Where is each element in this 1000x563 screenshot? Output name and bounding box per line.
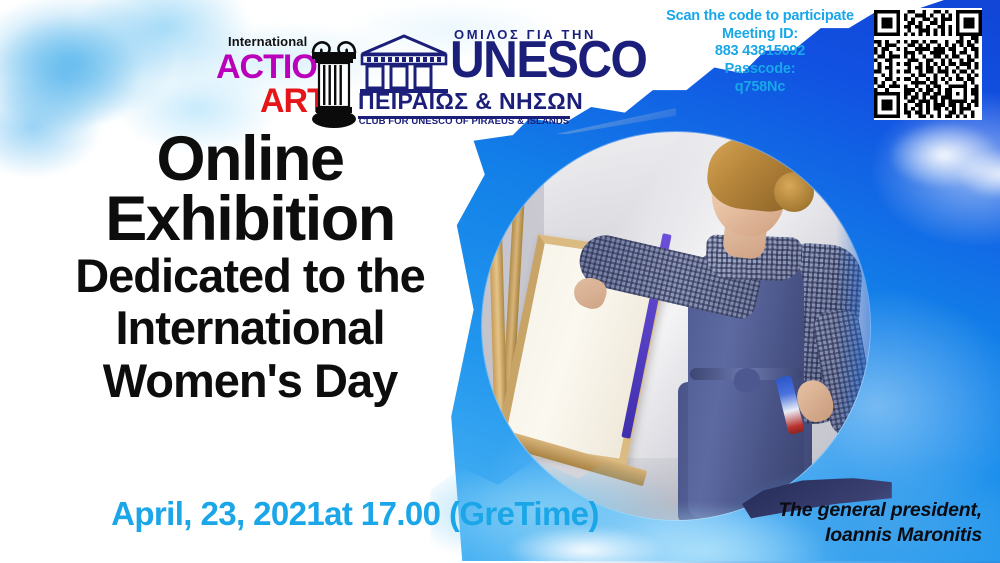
logo-unesco-club-subtitle: CLUB FOR UNESCO OF PIRAEUS & ISLANDS [358,116,570,127]
qr-code-icon[interactable] [874,8,982,120]
title-line-online: Online [40,130,460,190]
passcode-label: Passcode: [655,61,865,79]
poster-canvas: International ACTION ART [0,0,1000,563]
woman-painting-on-easel-photo [482,132,870,520]
signature-block: The general president, Ioannis Maronitis [712,498,982,548]
logo-unesco-wordmark: UNESCO [450,35,646,87]
figure-hair-bun [774,172,814,212]
logo-action-art-international-text: International [228,34,307,49]
scan-info-block: Scan the code to participate Meeting ID:… [655,8,865,96]
signature-name: Ioannis Maronitis [712,523,982,548]
scan-instruction-text: Scan the code to participate [655,8,865,26]
title-line-exhibition: Exhibition [40,190,460,250]
ionic-column-icon [310,36,358,133]
meeting-id-value: 883 43815092 [655,43,865,61]
meeting-id-label: Meeting ID: [655,26,865,44]
event-date-time: April, 23, 2021at 17.00 (GreTime) [60,495,650,533]
logo-unesco-peiraios-text: ΠΕΙΡΑΙΩΣ & ΝΗΣΩΝ [358,88,570,119]
logo-unesco-club-piraeus-islands[interactable]: ΟΜΙΛΟΣ ΓΙΑ ΤΗΝ UNESCO ΠΕΙΡΑΙΩΣ & ΝΗΣΩΝ C… [358,26,570,126]
signature-role: The general president, [712,498,982,523]
figure-apron-knot [734,368,760,392]
photo-blue-rim [824,132,870,520]
title-line-international: International [40,302,460,355]
logo-international-action-art[interactable]: International ACTION ART [218,28,358,128]
passcode-value: q758Nc [655,79,865,97]
page-title: Online Exhibition Dedicated to the Inter… [40,130,460,408]
title-line-womens-day: Women's Day [40,355,460,408]
title-line-dedicated: Dedicated to the [40,250,460,303]
